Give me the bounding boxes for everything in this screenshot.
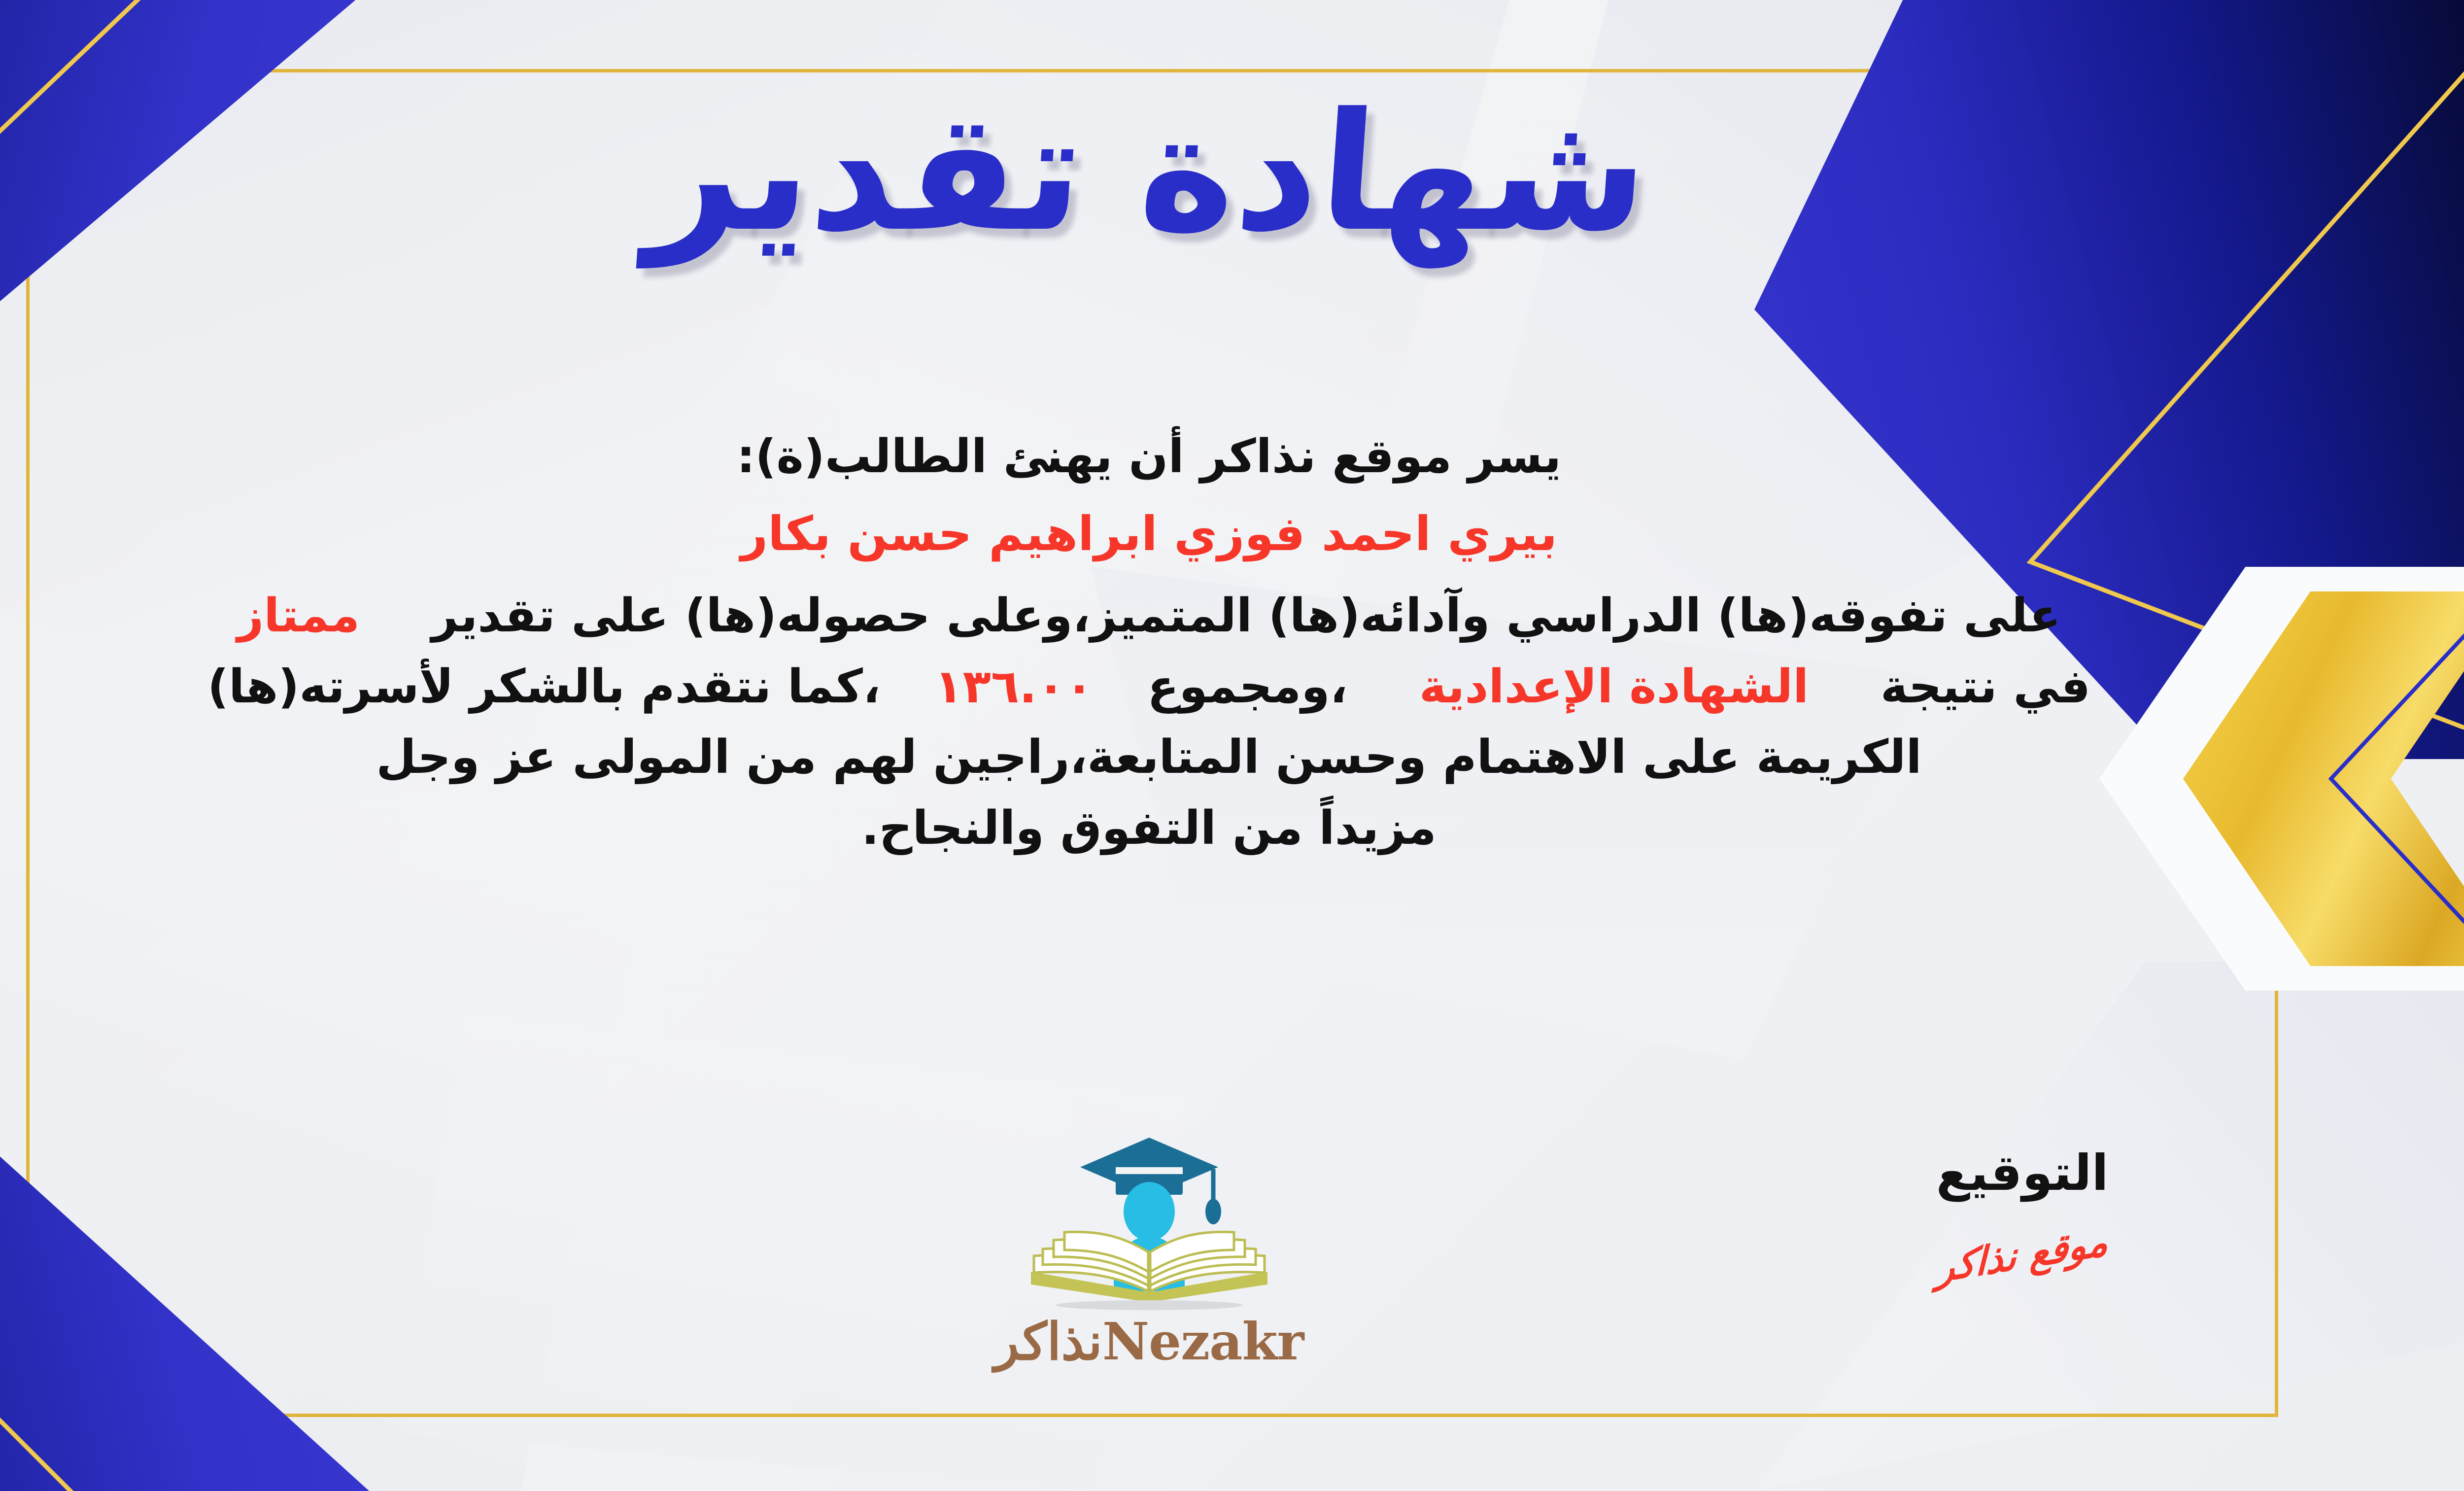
total-label: ،ومجموع	[1147, 660, 1347, 714]
signature-area: التوقيع موقع نذاكر	[1935, 1148, 2109, 1275]
salutation-line: يسر موقع نذاكر أن يهنئ الطالب(ة):	[41, 424, 2257, 489]
certificate-name: الشهادة الإعدادية	[1419, 660, 1809, 714]
certificate-title-wrap: شهادة تقدير	[0, 91, 2464, 254]
salutation-text: يسر موقع نذاكر أن يهنئ الطالب(ة):	[737, 430, 1561, 484]
certificate-page: شهادة تقدير يسر موقع نذاكر أن يهنئ الطال…	[0, 0, 2464, 1491]
closing-line: مزيداً من التفوق والنجاح.	[41, 796, 2257, 861]
thanks-text: ،كما نتقدم بالشكر لأسرته(ها)	[207, 660, 881, 714]
signature-label: التوقيع	[1935, 1148, 2109, 1198]
logo-wordmark: Nezakrنذاكر	[962, 1316, 1336, 1367]
logo-latin-text: Nezakr	[1102, 1311, 1304, 1372]
logo-arabic-text: نذاكر	[994, 1311, 1102, 1372]
achievement-text: على تفوقه(ها) الدراسي وآدائه(ها) المتميز…	[432, 589, 2061, 643]
grade-value: ممتاز	[237, 589, 360, 643]
total-score-value: ١٣٦.٠٠	[934, 660, 1094, 714]
certificate-title: شهادة تقدير	[644, 91, 1654, 254]
corner-gold-line-bottom-left	[0, 973, 415, 1491]
certificate-body: يسر موقع نذاكر أن يهنئ الطالب(ة): بيري ا…	[41, 424, 2257, 861]
site-logo: Nezakrنذاكر	[962, 1129, 1336, 1367]
result-line: في نتيجة الشهادة الإعدادية ،ومجموع ١٣٦.٠…	[41, 654, 2257, 720]
result-prefix: في نتيجة	[1881, 660, 2090, 714]
student-name: بيري احمد فوزي ابراهيم حسن بكار	[41, 506, 2257, 561]
family-thanks-line: الكريمة على الاهتمام وحسن المتابعة،راجين…	[41, 725, 2257, 790]
achievement-line: على تفوقه(ها) الدراسي وآدائه(ها) المتميز…	[41, 583, 2257, 649]
graduate-book-icon	[1011, 1129, 1287, 1311]
